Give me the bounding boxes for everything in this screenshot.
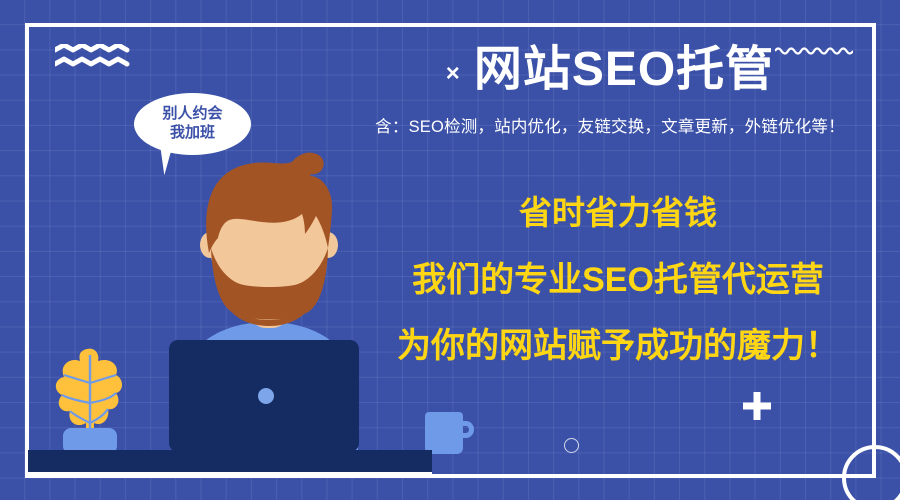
speech-bubble-text: 别人约会 我加班	[134, 93, 251, 155]
speech-bubble: 别人约会 我加班	[134, 93, 251, 155]
desk-surface	[28, 450, 432, 472]
seo-promo-banner: × 网站SEO托管 含：SEO检测，站内优化，友链交换，文章更新，外链优化等！ …	[0, 0, 900, 500]
coffee-mug-icon	[425, 412, 463, 454]
speech-bubble-line-2: 我加班	[170, 124, 215, 143]
laptop-logo-dot	[258, 388, 274, 404]
desk-edge-line	[28, 472, 432, 476]
speech-bubble-line-1: 别人约会	[162, 105, 222, 124]
